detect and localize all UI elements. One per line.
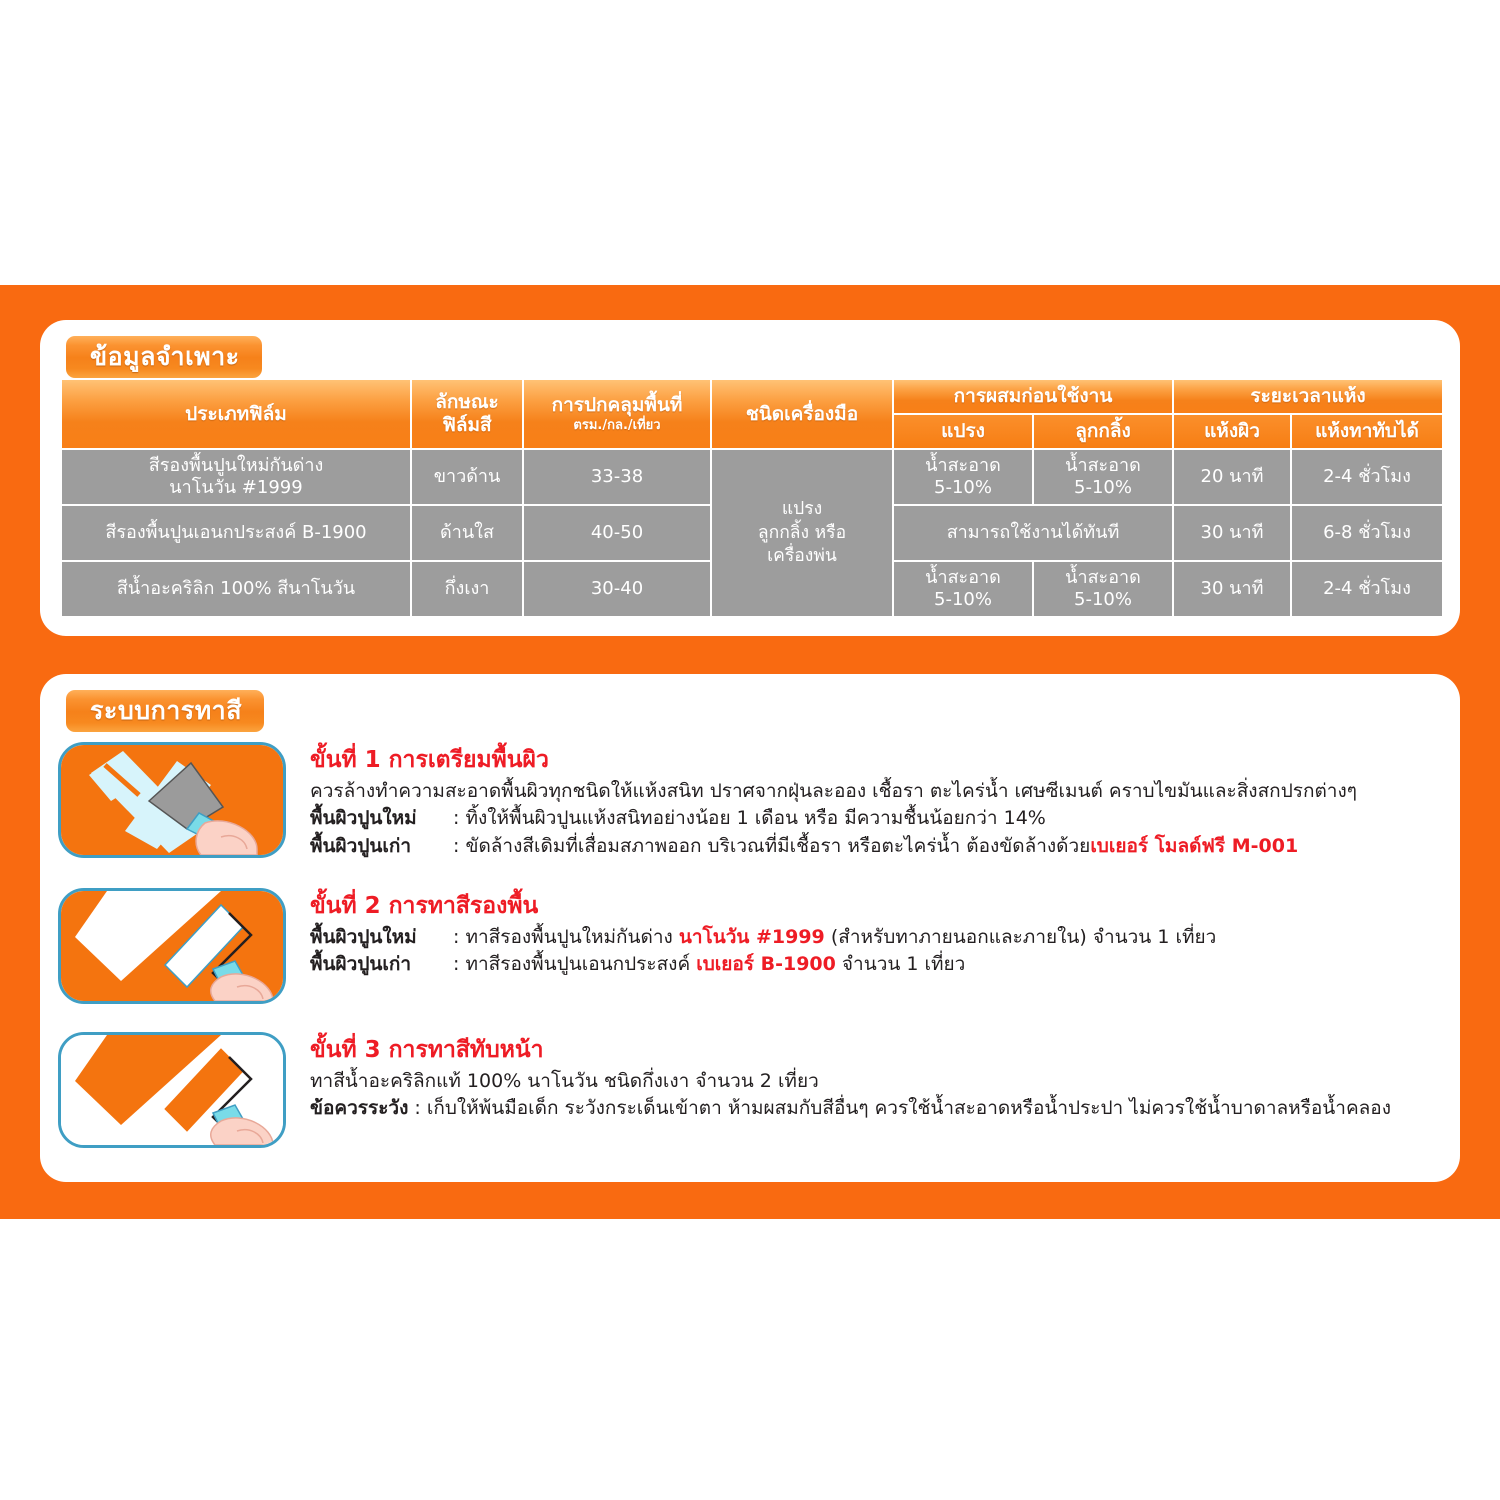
- step-1: ขั้นที่ 1 การเตรียมพื้นผิว ควรล้างทำความ…: [58, 742, 1438, 860]
- step-2-line-0-text: ทาสีรองพื้นปูนใหม่กันด่าง: [465, 926, 678, 948]
- cell-dry-touch-3: 30 นาที: [1174, 562, 1290, 616]
- cell-film-type-3: สีน้ำอะคริลิก 100% สีนาโนวัน: [62, 562, 410, 616]
- header-mixing-group: การผสมก่อนใช้งาน: [894, 380, 1172, 413]
- step-2-line-0-text-after: (สำหรับทาภายนอกและภายใน) จำนวน 1 เที่ยว: [825, 926, 1217, 948]
- cell-dry-recoat-3: 2-4 ชั่วโมง: [1292, 562, 1442, 616]
- cell-roller-1-line1: น้ำสะอาด: [1065, 455, 1141, 476]
- header-dry-recoat: แห้งทาทับได้: [1292, 415, 1442, 448]
- cell-film-type-1: สีรองพื้นปูนใหม่กันด่าง นาโนวัน #1999: [62, 450, 410, 504]
- step-2: ขั้นที่ 2 การทาสีรองพื้น พื้นผิวปูนใหม่:…: [58, 888, 1438, 979]
- step-2-line-1-label: พื้นผิวปูนเก่า: [310, 951, 453, 979]
- header-film-look: ลักษณะ ฟิล์มสี: [412, 380, 522, 448]
- cell-coverage-1: 33-38: [524, 450, 710, 504]
- header-coverage-label: การปกคลุมพื้นที่: [552, 394, 683, 416]
- step-1-line-2-text: ขัดล้างสีเดิมที่เสื่อมสภาพออก บริเวณที่ม…: [465, 835, 1090, 857]
- step-1-line-2-product: เบเยอร์ โมลด์ฟรี M-001: [1090, 835, 1298, 857]
- step-3: ขั้นที่ 3 การทาสีทับหน้า ทาสีน้ำอะคริลิก…: [58, 1032, 1438, 1123]
- cell-look-2: ด้านใส: [412, 506, 522, 560]
- cell-dry-touch-1: 20 นาที: [1174, 450, 1290, 504]
- header-mixing-brush: แปรง: [894, 415, 1032, 448]
- cell-tool-line3: เครื่องพ่น: [767, 546, 837, 566]
- specification-heading-pill: ข้อมูลจำเพาะ: [66, 336, 262, 378]
- cell-brush-3-line1: น้ำสะอาด: [925, 567, 1001, 588]
- cell-dry-recoat-1: 2-4 ชั่วโมง: [1292, 450, 1442, 504]
- cell-brush-1-line1: น้ำสะอาด: [925, 455, 1001, 476]
- cell-film-type-2: สีรองพื้นปูนเอนกประสงค์ B-1900: [62, 506, 410, 560]
- step-2-line-0-label: พื้นผิวปูนใหม่: [310, 924, 453, 952]
- cell-roller-3-line2: 5-10%: [1074, 589, 1132, 610]
- cell-coverage-2: 40-50: [524, 506, 710, 560]
- step-1-line-1: พื้นผิวปูนใหม่: ทิ้งให้พื้นผิวปูนแห้งสนิ…: [310, 805, 1438, 833]
- header-film-look-line2: ฟิล์มสี: [442, 414, 491, 436]
- step-3-title: ขั้นที่ 3 การทาสีทับหน้า: [310, 1036, 1438, 1065]
- header-film-look-line1: ลักษณะ: [435, 391, 499, 413]
- header-coverage-unit: ตรม./กล./เที่ยว: [528, 418, 706, 434]
- cell-tool-type: แปรง ลูกกลิ้ง หรือ เครื่องพ่น: [712, 450, 892, 616]
- step-1-line-1-colon: :: [453, 807, 459, 829]
- header-mixing-roller: ลูกกลิ้ง: [1034, 415, 1172, 448]
- step-2-line-1-text-after: จำนวน 1 เที่ยว: [836, 953, 965, 975]
- step-1-line-0: ควรล้างทำความสะอาดพื้นผิวทุกชนิดให้แห้งส…: [310, 778, 1438, 806]
- step-1-line-1-text: ทิ้งให้พื้นผิวปูนแห้งสนิทอย่างน้อย 1 เดื…: [465, 807, 1045, 829]
- header-dry-touch: แห้งผิว: [1174, 415, 1290, 448]
- cell-dry-recoat-2: 6-8 ชั่วโมง: [1292, 506, 1442, 560]
- step-1-body: ขั้นที่ 1 การเตรียมพื้นผิว ควรล้างทำความ…: [310, 742, 1438, 860]
- step-2-line-0-product: นาโนวัน #1999: [679, 926, 825, 948]
- step-2-line-1: พื้นผิวปูนเก่า: ทาสีรองพื้นปูนเอนกประสงค…: [310, 951, 1438, 979]
- cell-brush-3-line2: 5-10%: [934, 589, 992, 610]
- cell-brush-1: น้ำสะอาด 5-10%: [894, 450, 1032, 504]
- step-3-line-1-label: ข้อควรระวัง: [310, 1095, 408, 1123]
- step-2-line-1-product: เบเยอร์ B-1900: [696, 953, 836, 975]
- step-2-line-1-text: ทาสีรองพื้นปูนเอนกประสงค์: [465, 953, 696, 975]
- cell-roller-3-line1: น้ำสะอาด: [1065, 567, 1141, 588]
- cell-roller-1: น้ำสะอาด 5-10%: [1034, 450, 1172, 504]
- cell-film-type-1-line2: นาโนวัน #1999: [169, 477, 302, 498]
- table-row: สีรองพื้นปูนใหม่กันด่าง นาโนวัน #1999 ขา…: [62, 450, 1442, 504]
- cell-dry-touch-2: 30 นาที: [1174, 506, 1290, 560]
- step-1-line-1-label: พื้นผิวปูนใหม่: [310, 805, 453, 833]
- cell-roller-3: น้ำสะอาด 5-10%: [1034, 562, 1172, 616]
- step-2-line-0-colon: :: [453, 926, 459, 948]
- cell-tool-line2: ลูกกลิ้ง หรือ: [758, 523, 846, 543]
- step-2-title: ขั้นที่ 2 การทาสีรองพื้น: [310, 892, 1438, 921]
- cell-look-1: ขาวด้าน: [412, 450, 522, 504]
- cell-coverage-3: 30-40: [524, 562, 710, 616]
- step-1-line-2: พื้นผิวปูนเก่า: ขัดล้างสีเดิมที่เสื่อมสภ…: [310, 833, 1438, 861]
- header-tool-type: ชนิดเครื่องมือ: [712, 380, 892, 448]
- roller-orange-paint-icon: [58, 1032, 286, 1148]
- scraper-on-orange-icon: [58, 742, 286, 858]
- cell-brush-1-line2: 5-10%: [934, 477, 992, 498]
- cell-roller-1-line2: 5-10%: [1074, 477, 1132, 498]
- step-3-line-1-colon: :: [414, 1097, 420, 1119]
- cell-look-3: กึ่งเงา: [412, 562, 522, 616]
- cell-film-type-1-line1: สีรองพื้นปูนใหม่กันด่าง: [149, 455, 323, 476]
- roller-white-paint-icon: [58, 888, 286, 1004]
- step-2-body: ขั้นที่ 2 การทาสีรองพื้น พื้นผิวปูนใหม่:…: [310, 888, 1438, 979]
- specification-table: ประเภทฟิล์ม ลักษณะ ฟิล์มสี การปกคลุมพื้น…: [60, 378, 1444, 618]
- step-2-line-1-colon: :: [453, 953, 459, 975]
- cell-brush-3: น้ำสะอาด 5-10%: [894, 562, 1032, 616]
- step-1-title: ขั้นที่ 1 การเตรียมพื้นผิว: [310, 746, 1438, 775]
- step-1-line-2-label: พื้นผิวปูนเก่า: [310, 833, 453, 861]
- header-coverage: การปกคลุมพื้นที่ ตรม./กล./เที่ยว: [524, 380, 710, 448]
- step-3-line-1: ข้อควรระวัง : เก็บให้พ้นมือเด็ก ระวังกระ…: [310, 1095, 1438, 1123]
- step-2-line-0: พื้นผิวปูนใหม่: ทาสีรองพื้นปูนใหม่กันด่า…: [310, 924, 1438, 952]
- header-drying-group: ระยะเวลาแห้ง: [1174, 380, 1442, 413]
- table-header-row-1: ประเภทฟิล์ม ลักษณะ ฟิล์มสี การปกคลุมพื้น…: [62, 380, 1442, 413]
- step-3-line-1-text: เก็บให้พ้นมือเด็ก ระวังกระเด็นเข้าตา ห้า…: [427, 1097, 1391, 1119]
- painting-system-heading-pill: ระบบการทาสี: [66, 690, 264, 732]
- cell-mix-span-2: สามารถใช้งานได้ทันที: [894, 506, 1172, 560]
- header-film-type: ประเภทฟิล์ม: [62, 380, 410, 448]
- step-1-line-2-colon: :: [453, 835, 459, 857]
- step-3-line-0: ทาสีน้ำอะคริลิกแท้ 100% นาโนวัน ชนิดกึ่ง…: [310, 1068, 1438, 1096]
- cell-tool-line1: แปรง: [782, 499, 822, 519]
- step-3-body: ขั้นที่ 3 การทาสีทับหน้า ทาสีน้ำอะคริลิก…: [310, 1032, 1438, 1123]
